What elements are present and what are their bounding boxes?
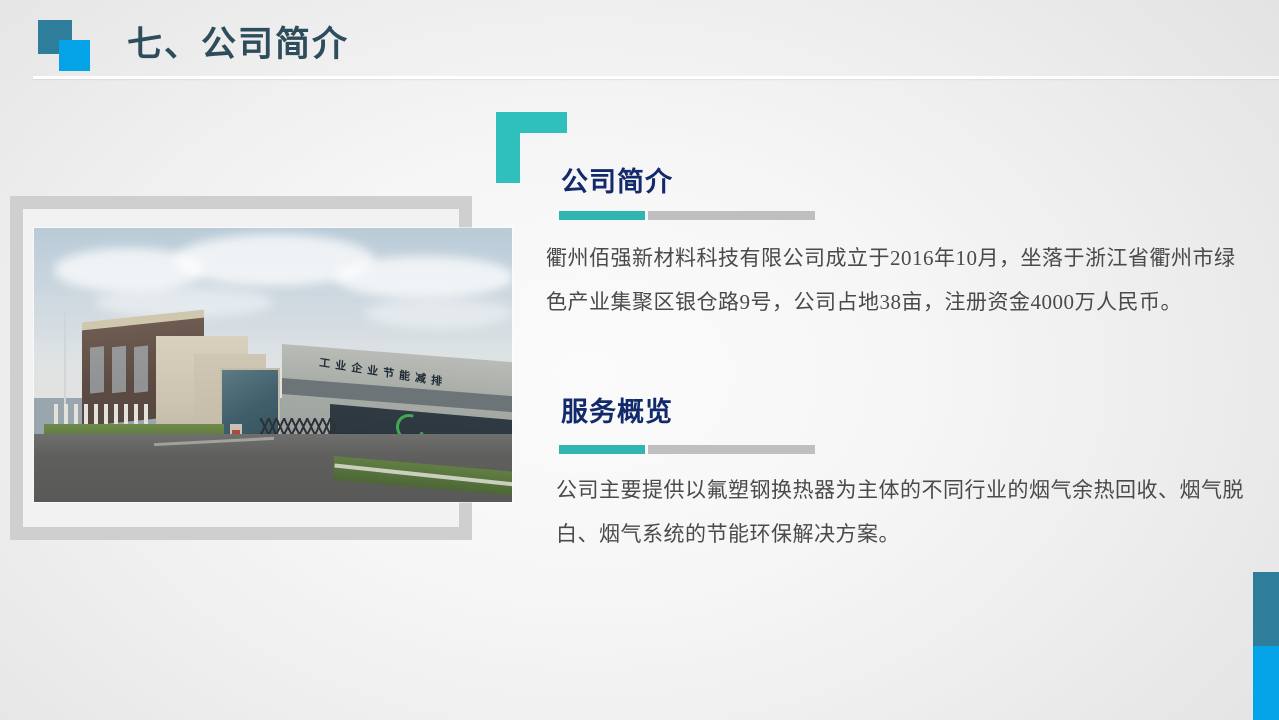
section-divider-service xyxy=(559,445,815,454)
corner-bracket-icon xyxy=(496,112,520,183)
photo-cloud xyxy=(364,298,512,328)
photo-cloud xyxy=(334,256,512,298)
section-paragraph-service: 公司主要提供以氟塑钢换热器为主体的不同行业的烟气余热回收、烟气脱白、烟气系统的节… xyxy=(556,468,1256,556)
photo-window xyxy=(134,345,148,392)
photo-fence xyxy=(54,404,150,426)
photo-utility-pole xyxy=(64,312,66,416)
slide-title: 七、公司简介 xyxy=(127,16,349,67)
slide-canvas: 七、公司简介 工业企业节能减排 xyxy=(0,0,1279,720)
section-heading-company: 公司简介 xyxy=(561,160,673,199)
photo-window xyxy=(90,346,104,393)
divider-segment-teal xyxy=(559,445,645,454)
section-heading-service: 服务概览 xyxy=(561,390,673,429)
footer-accent-dark xyxy=(1253,572,1279,646)
photo-window xyxy=(112,346,126,393)
footer-accent-bright xyxy=(1253,646,1279,720)
factory-photo: 工业企业节能减排 衢州佰强新材料科技有限公司 xyxy=(34,228,512,502)
header-square-bright-icon xyxy=(59,40,90,71)
section-paragraph-company: 衢州佰强新材料科技有限公司成立于2016年10月，坐落于浙江省衢州市绿色产业集聚… xyxy=(546,236,1246,324)
divider-segment-gray xyxy=(648,211,815,220)
divider-segment-teal xyxy=(559,211,645,220)
factory-photo-frame: 工业企业节能减排 衢州佰强新材料科技有限公司 xyxy=(10,196,472,540)
title-divider-rule xyxy=(33,76,1279,79)
section-divider-company xyxy=(559,211,815,220)
divider-segment-gray xyxy=(648,445,815,454)
